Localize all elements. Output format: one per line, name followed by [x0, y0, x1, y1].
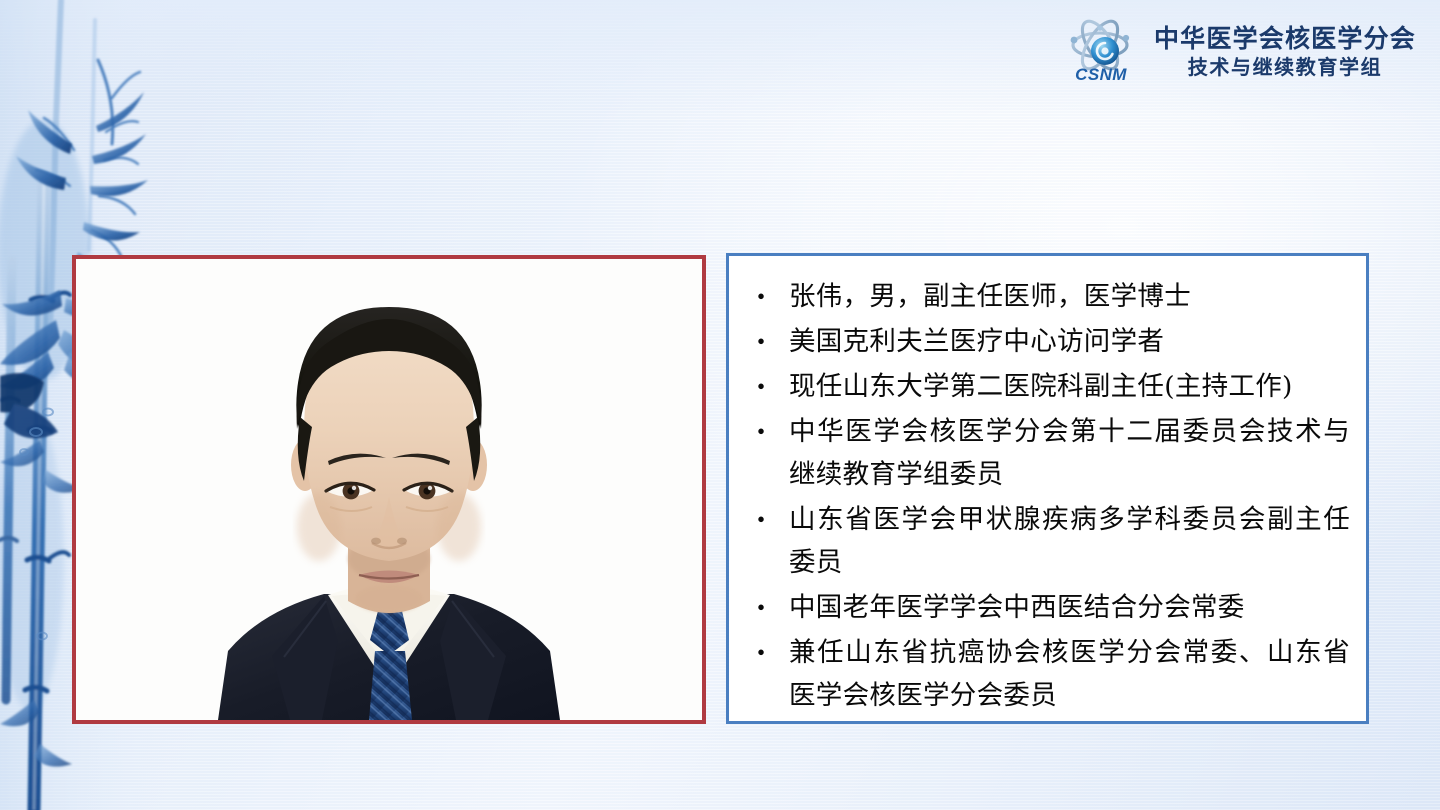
- bullet-icon: •: [743, 586, 789, 629]
- bullet-icon: •: [743, 631, 789, 674]
- org-name-group: 中华医学会核医学分会 技术与继续教育学组: [1154, 25, 1416, 79]
- bio-list-item: • 山东省医学会甲状腺疾病多学科委员会副主任委员: [743, 498, 1350, 584]
- bio-bullet-list: • 张伟，男，副主任医师，医学博士 • 美国克利夫兰医疗中心访问学者 • 现任山…: [743, 275, 1350, 717]
- bio-item-text: 美国克利夫兰医疗中心访问学者: [789, 320, 1350, 363]
- bio-item-text: 张伟，男，副主任医师，医学博士: [789, 275, 1350, 318]
- speaker-portrait-photo: [76, 259, 702, 720]
- bullet-icon: •: [743, 498, 789, 541]
- bio-item-text: 兼任山东省抗癌协会核医学分会常委、山东省医学会核医学分会委员: [789, 631, 1350, 717]
- bio-list-item: • 中华医学会核医学分会第十二届委员会技术与继续教育学组委员: [743, 410, 1350, 496]
- bio-list-item: • 现任山东大学第二医院科副主任(主持工作): [743, 365, 1350, 408]
- bio-list-item: • 中国老年医学学会中西医结合分会常委: [743, 586, 1350, 629]
- csnm-atom-emblem-icon: CSNM: [1060, 16, 1142, 88]
- bio-item-text: 中国老年医学学会中西医结合分会常委: [789, 586, 1350, 629]
- csnm-logo-banner: CSNM 中华医学会核医学分会 技术与继续教育学组: [1060, 16, 1416, 88]
- svg-text:CSNM: CSNM: [1075, 65, 1127, 84]
- bio-list-item: • 张伟，男，副主任医师，医学博士: [743, 275, 1350, 318]
- bio-item-text: 山东省医学会甲状腺疾病多学科委员会副主任委员: [789, 498, 1350, 584]
- slide-canvas: CSNM 中华医学会核医学分会 技术与继续教育学组: [0, 0, 1440, 810]
- bio-list-item: • 美国克利夫兰医疗中心访问学者: [743, 320, 1350, 363]
- org-name-secondary: 技术与继续教育学组: [1188, 57, 1382, 79]
- speaker-portrait-frame: [72, 255, 706, 724]
- bullet-icon: •: [743, 320, 789, 363]
- bio-list-item: • 兼任山东省抗癌协会核医学分会常委、山东省医学会核医学分会委员: [743, 631, 1350, 717]
- bio-item-text: 中华医学会核医学分会第十二届委员会技术与继续教育学组委员: [789, 410, 1350, 496]
- bullet-icon: •: [743, 365, 789, 408]
- org-name-primary: 中华医学会核医学分会: [1154, 25, 1416, 53]
- bullet-icon: •: [743, 410, 789, 453]
- speaker-bio-box: • 张伟，男，副主任医师，医学博士 • 美国克利夫兰医疗中心访问学者 • 现任山…: [726, 253, 1369, 724]
- bio-item-text: 现任山东大学第二医院科副主任(主持工作): [789, 365, 1350, 408]
- bullet-icon: •: [743, 275, 789, 318]
